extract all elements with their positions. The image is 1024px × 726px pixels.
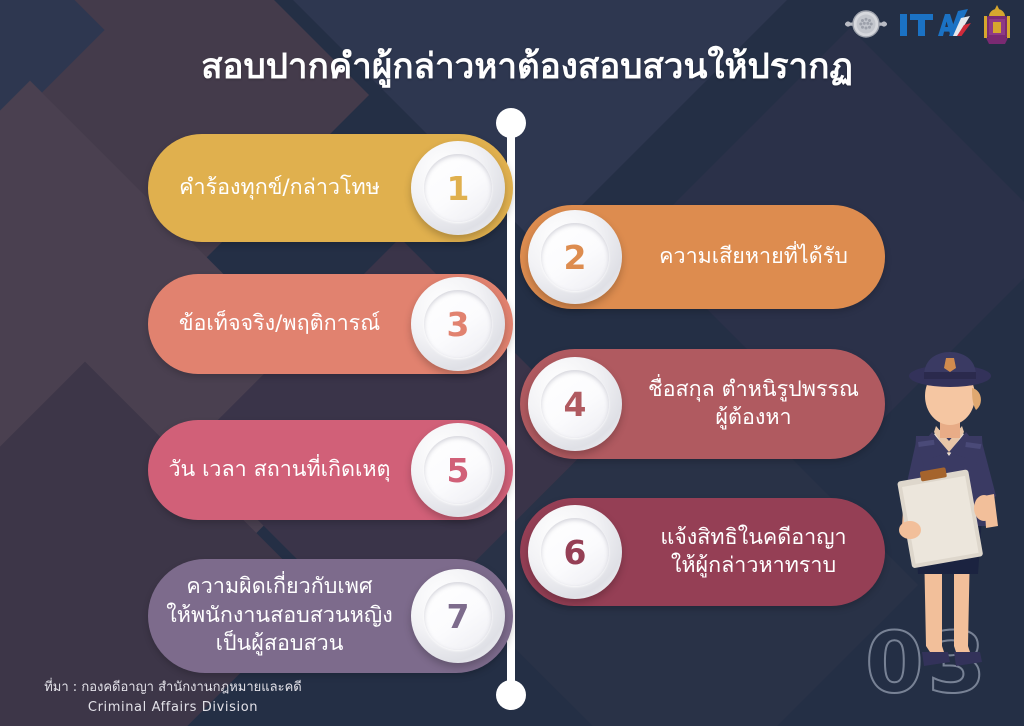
step-pill-5[interactable]: วัน เวลา สถานที่เกิดเหตุ5 (148, 420, 513, 520)
step-label-4: ชื่อสกุล ตำหนิรูปพรรณผู้ต้องหา (622, 376, 885, 433)
step-number-badge-4: 4 (528, 357, 622, 451)
step-label-7: ความผิดเกี่ยวกับเพศให้พนักงานสอบสวนหญิงเ… (148, 573, 411, 658)
step-number-6: 6 (564, 536, 587, 569)
step-pill-1[interactable]: คำร้องทุกข์/กล่าวโทษ1 (148, 134, 513, 242)
step-pill-6[interactable]: 6แจ้งสิทธิในคดีอาญาให้ผู้กล่าวหาทราบ (520, 498, 885, 606)
source-line-english: Criminal Affairs Division (8, 698, 338, 718)
timeline-top-dot (496, 108, 526, 138)
step-label-5: วัน เวลา สถานที่เกิดเหตุ (148, 456, 411, 484)
source-line-thai: ที่มา : กองคดีอาญา สำนักงานกฎหมายและคดี (8, 678, 338, 698)
logo-group (844, 4, 1012, 46)
step-number-3: 3 (447, 308, 470, 341)
step-number-badge-2: 2 (528, 210, 622, 304)
step-number-badge-1: 1 (411, 141, 505, 235)
step-number-1: 1 (447, 172, 470, 205)
step-number-badge-5: 5 (411, 423, 505, 517)
step-pill-3[interactable]: ข้อเท็จจริง/พฤติการณ์3 (148, 274, 513, 374)
step-label-6: แจ้งสิทธิในคดีอาญาให้ผู้กล่าวหาทราบ (622, 524, 885, 581)
step-pill-7[interactable]: ความผิดเกี่ยวกับเพศให้พนักงานสอบสวนหญิงเ… (148, 559, 513, 673)
step-number-2: 2 (564, 241, 587, 274)
step-number-4: 4 (564, 388, 587, 421)
page-title: สอบปากคำผู้กล่าวหาต้องสอบสวนให้ปรากฏ (0, 46, 1024, 89)
source-footer: ที่มา : กองคดีอาญา สำนักงานกฎหมายและคดี … (8, 678, 338, 718)
step-number-badge-6: 6 (528, 505, 622, 599)
timeline-bottom-dot (496, 680, 526, 710)
step-number-5: 5 (447, 454, 470, 487)
infographic-page: สอบปากคำผู้กล่าวหาต้องสอบสวนให้ปรากฏ (0, 0, 1024, 726)
step-label-1: คำร้องทุกข์/กล่าวโทษ (148, 174, 411, 202)
step-pill-2[interactable]: 2ความเสียหายที่ได้รับ (520, 205, 885, 309)
step-pill-4[interactable]: 4ชื่อสกุล ตำหนิรูปพรรณผู้ต้องหา (520, 349, 885, 459)
step-number-badge-3: 3 (411, 277, 505, 371)
step-label-3: ข้อเท็จจริง/พฤติการณ์ (148, 310, 411, 338)
step-number-badge-7: 7 (411, 569, 505, 663)
police-emblem-icon (844, 5, 888, 45)
step-number-7: 7 (447, 600, 470, 633)
step-label-2: ความเสียหายที่ได้รับ (622, 243, 885, 271)
ita-logo (898, 5, 972, 45)
female-police-officer-illustration (854, 346, 1024, 686)
royal-emblem-icon (982, 4, 1012, 46)
